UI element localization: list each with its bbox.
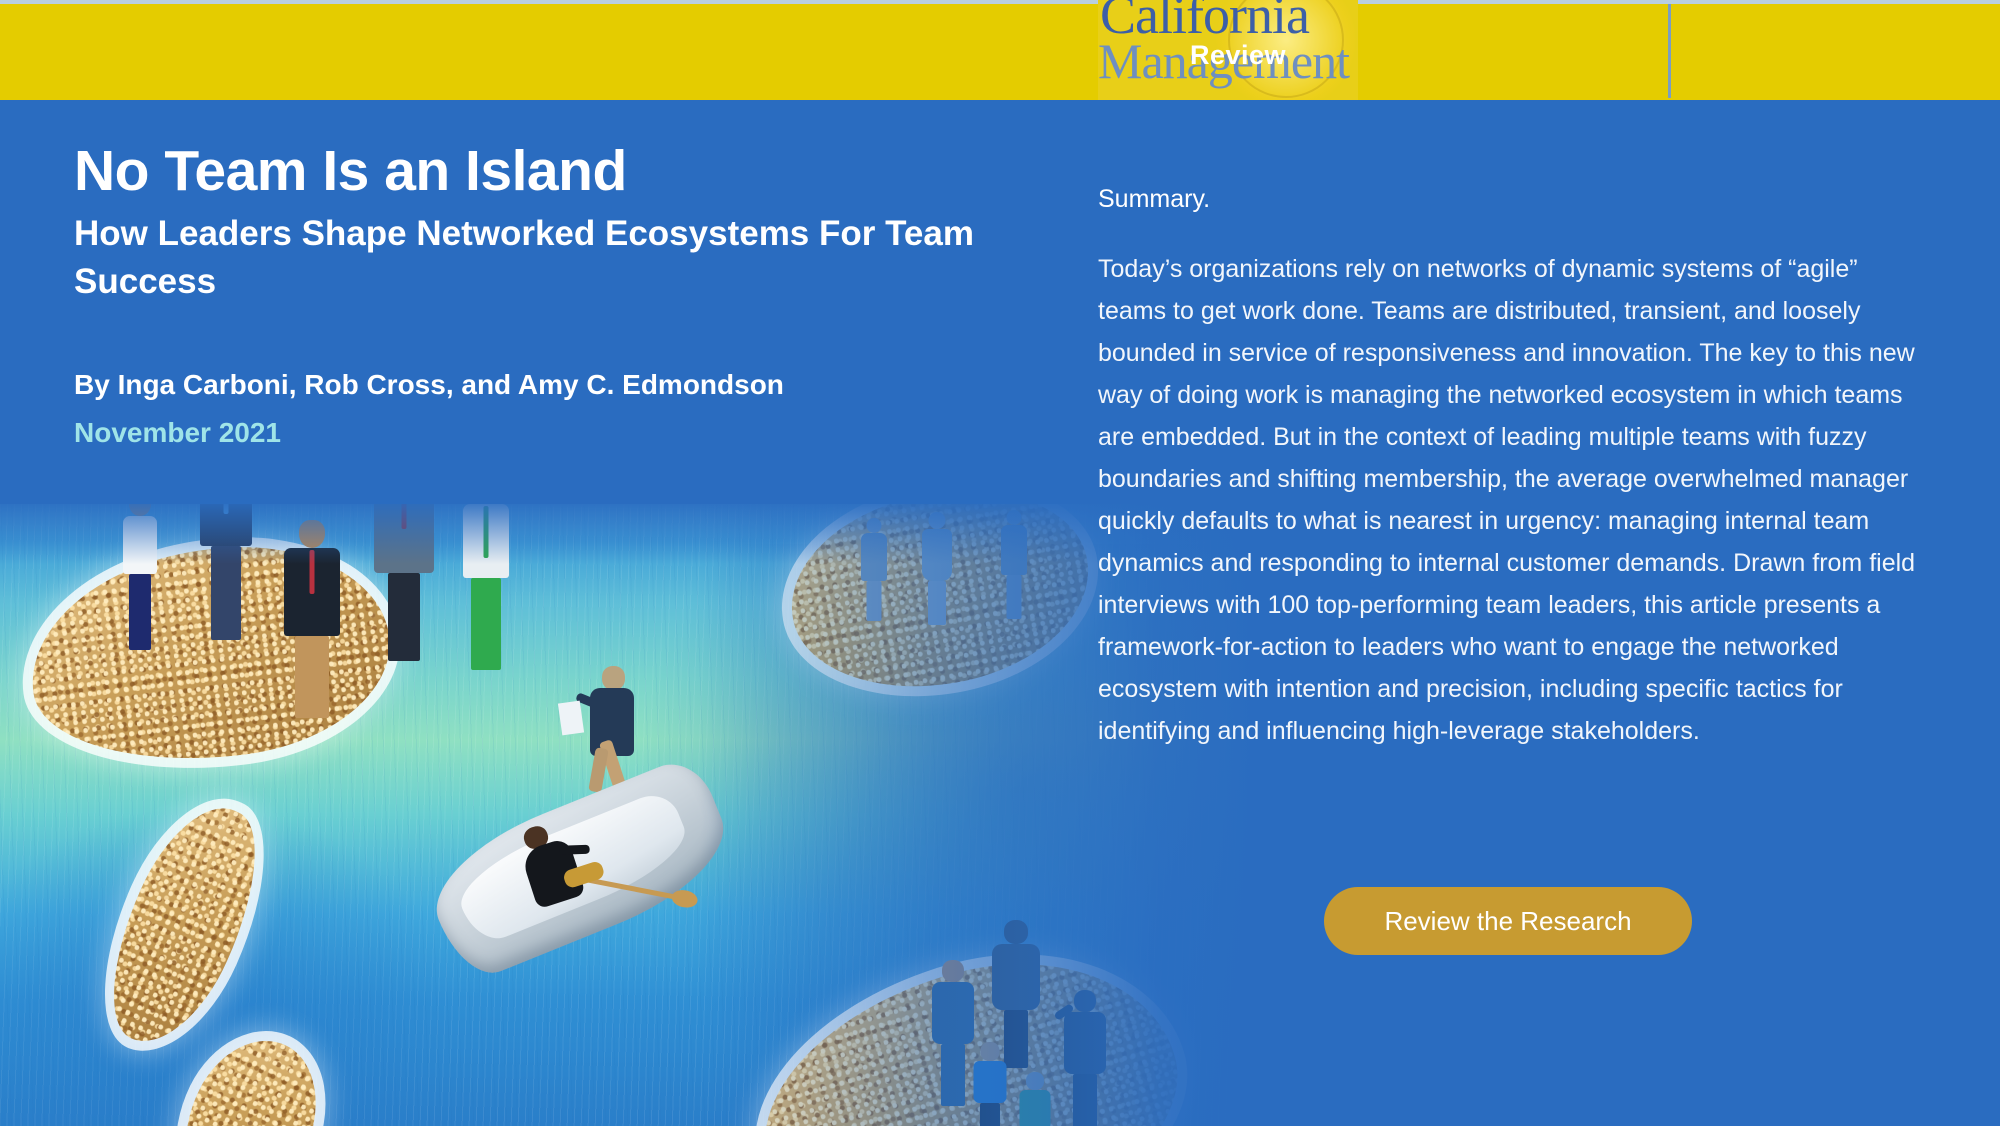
cta-container: Review the Research [1098,887,1918,955]
review-the-research-button[interactable]: Review the Research [1324,887,1691,955]
article-heading-block: No Team Is an Island How Leaders Shape N… [74,140,1054,450]
masthead-top-rule [0,0,2000,4]
article-byline: By Inga Carboni, Rob Cross, and Amy C. E… [74,368,1054,402]
masthead-bar: California Management Review [0,0,2000,100]
hero-illustration [0,504,1260,1126]
held-paper-icon [558,701,584,736]
summary-block: Summary. Today’s organizations rely on n… [1098,184,1918,752]
figure-running-man [580,666,634,794]
summary-text: Today’s organizations rely on networks o… [1098,248,1918,752]
article-subtitle: How Leaders Shape Networked Ecosystems F… [74,210,1054,306]
cmr-logo-inner: California Management Review [1098,0,1358,100]
article-title: No Team Is an Island [74,140,1054,202]
article-hero-page: California Management Review [0,0,2000,1126]
hero-body: No Team Is an Island How Leaders Shape N… [0,100,2000,1126]
masthead-vertical-divider [1668,4,1671,98]
article-publication-date: November 2021 [74,416,1054,450]
rower-arm [560,845,590,855]
summary-label: Summary. [1098,184,1918,214]
cmr-logo[interactable]: California Management Review [1098,0,1358,100]
cmr-logo-line-review: Review [1190,42,1286,69]
